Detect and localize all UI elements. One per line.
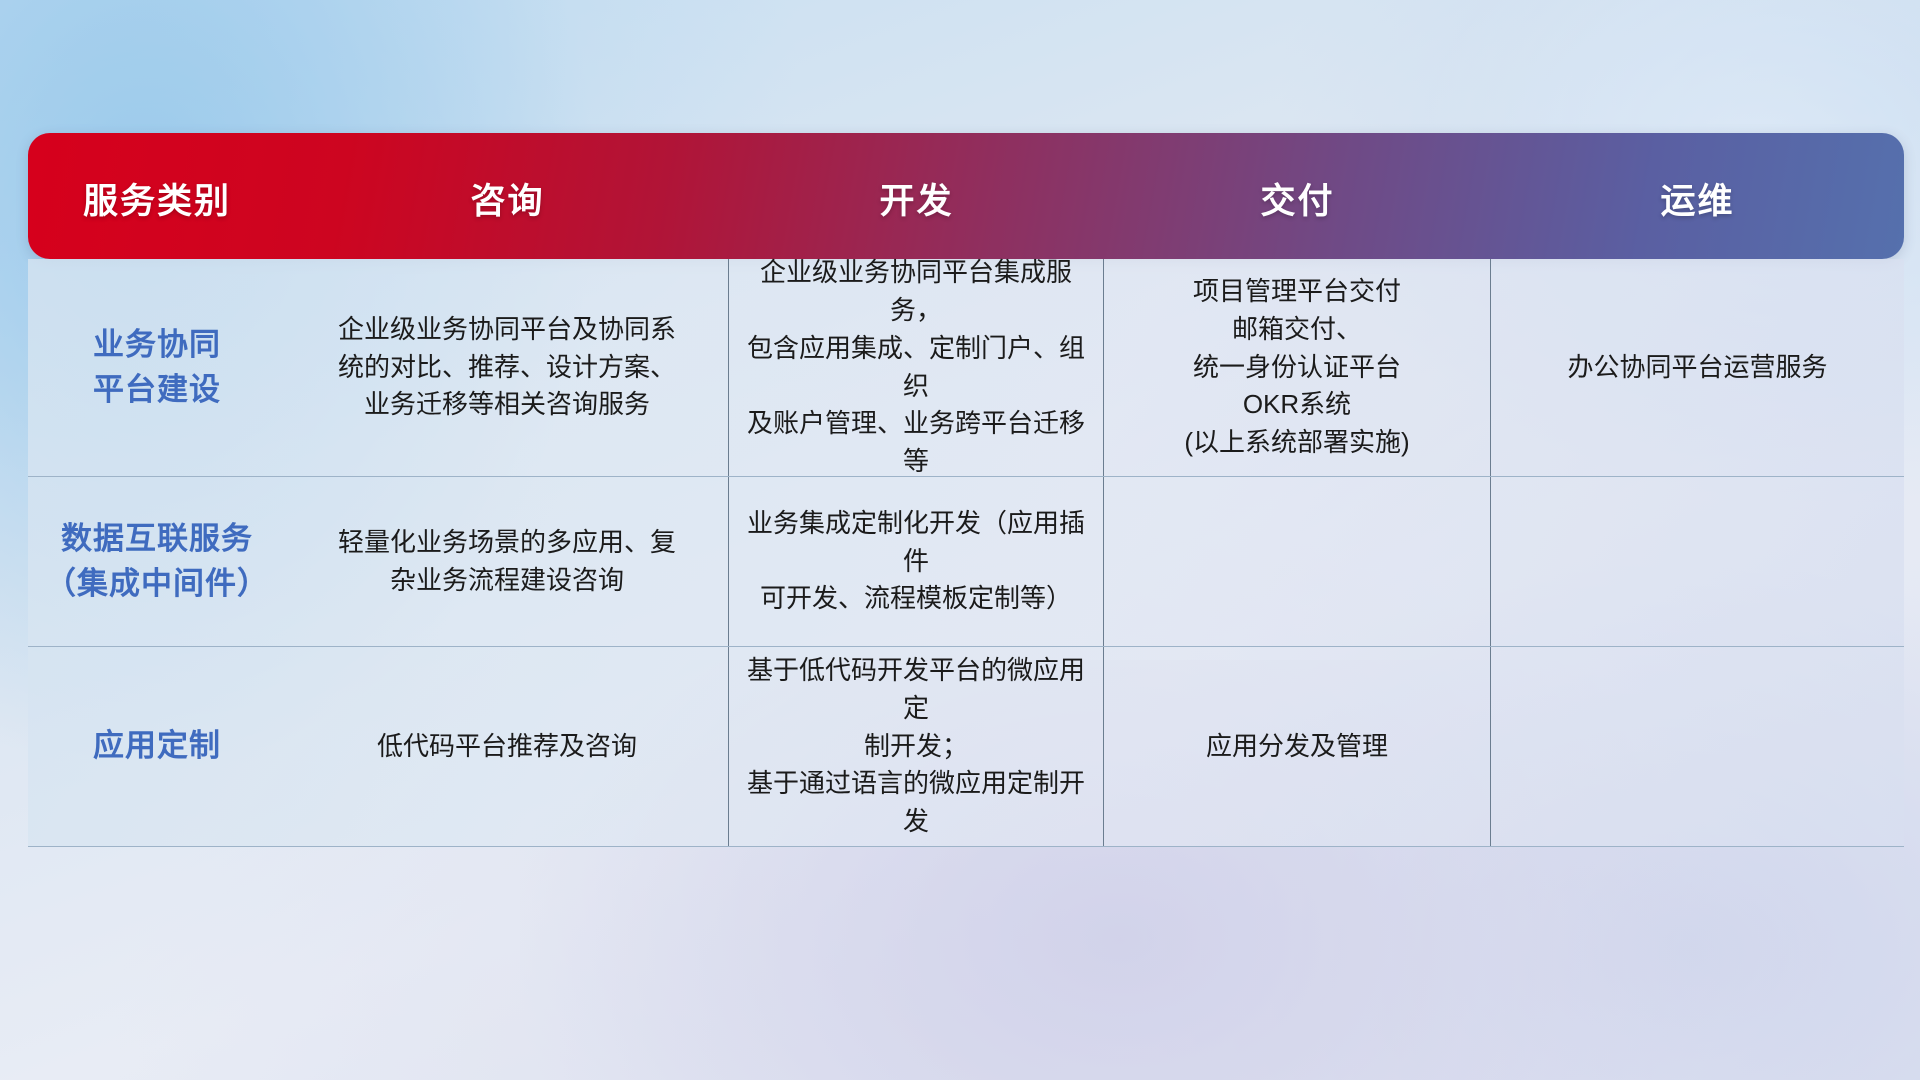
table-header-row: 服务类别 咨询 开发 交付 运维	[28, 133, 1904, 259]
column-header-category: 服务类别	[28, 133, 286, 259]
cell-delivery	[1104, 477, 1491, 646]
cell-delivery: 项目管理平台交付 邮箱交付、 统一身份认证平台 OKR系统 (以上系统部署实施)	[1104, 259, 1491, 476]
row-category-label: 业务协同 平台建设	[28, 259, 286, 476]
column-header-development: 开发	[729, 133, 1104, 259]
column-header-consulting: 咨询	[286, 133, 729, 259]
cell-consulting: 轻量化业务场景的多应用、复 杂业务流程建设咨询	[286, 477, 729, 646]
table-row: 数据互联服务 （集成中间件） 轻量化业务场景的多应用、复 杂业务流程建设咨询 业…	[28, 477, 1904, 647]
column-header-delivery: 交付	[1104, 133, 1491, 259]
cell-development: 企业级业务协同平台集成服务， 包含应用集成、定制门户、组织 及账户管理、业务跨平…	[729, 259, 1104, 476]
row-category-label: 应用定制	[28, 647, 286, 846]
cell-delivery: 应用分发及管理	[1104, 647, 1491, 846]
cell-operations: 办公协同平台运营服务	[1491, 259, 1904, 476]
table-row: 业务协同 平台建设 企业级业务协同平台及协同系 统的对比、推荐、设计方案、 业务…	[28, 259, 1904, 477]
column-header-operations: 运维	[1491, 133, 1904, 259]
row-category-label: 数据互联服务 （集成中间件）	[28, 477, 286, 646]
cell-operations	[1491, 477, 1904, 646]
table-row: 应用定制 低代码平台推荐及咨询 基于低代码开发平台的微应用定 制开发； 基于通过…	[28, 647, 1904, 847]
cell-consulting: 企业级业务协同平台及协同系 统的对比、推荐、设计方案、 业务迁移等相关咨询服务	[286, 259, 729, 476]
service-matrix-table: 服务类别 咨询 开发 交付 运维 业务协同 平台建设 企业级业务协同平台及协同系…	[28, 133, 1904, 847]
cell-development: 业务集成定制化开发（应用插件 可开发、流程模板定制等）	[729, 477, 1104, 646]
cell-operations	[1491, 647, 1904, 846]
cell-consulting: 低代码平台推荐及咨询	[286, 647, 729, 846]
cell-development: 基于低代码开发平台的微应用定 制开发； 基于通过语言的微应用定制开发	[729, 647, 1104, 846]
table-body: 业务协同 平台建设 企业级业务协同平台及协同系 统的对比、推荐、设计方案、 业务…	[28, 259, 1904, 847]
